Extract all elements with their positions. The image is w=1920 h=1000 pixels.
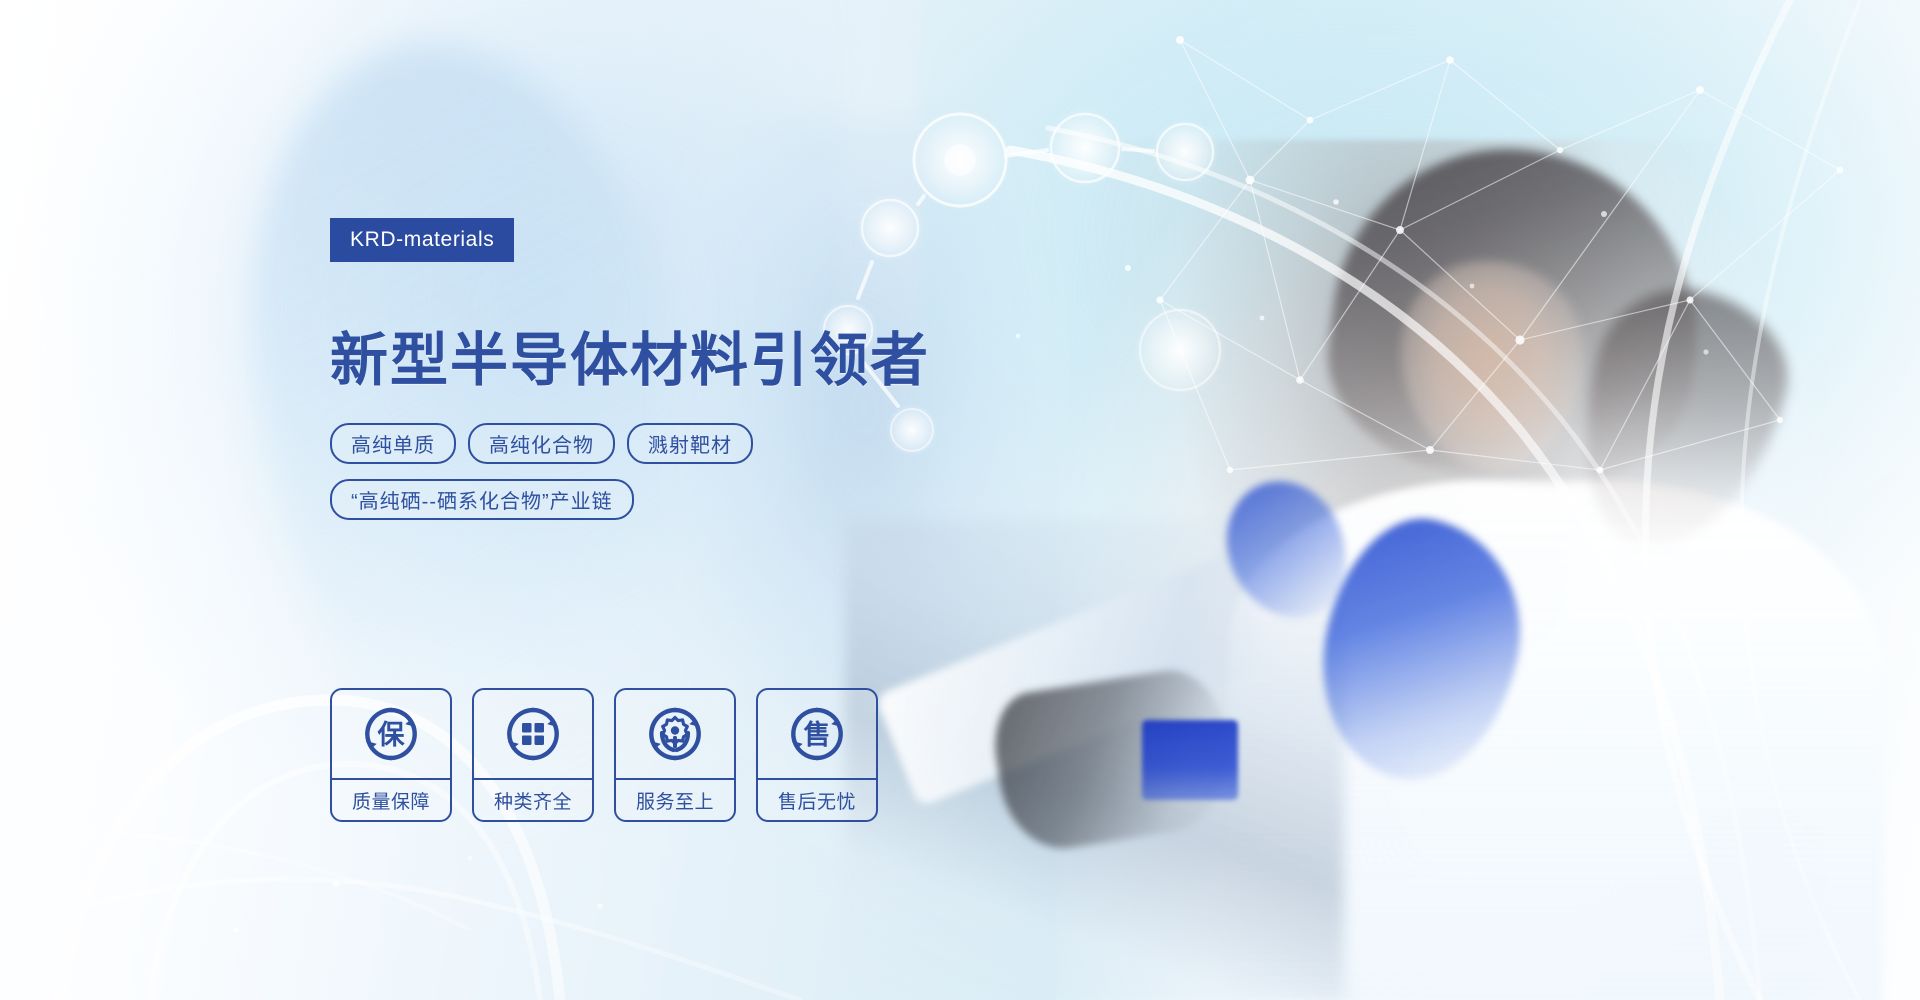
product-tag[interactable]: 高纯化合物 <box>468 423 615 464</box>
feature-card-service[interactable]: 服务至上 <box>614 688 736 822</box>
brand-badge: KRD-materials <box>330 218 514 262</box>
feature-card-aftersales[interactable]: 售 售后无忧 <box>756 688 878 822</box>
feature-label: 种类齐全 <box>474 778 592 820</box>
full-range-grid-icon <box>502 703 564 765</box>
aftersales-glyph: 售 <box>804 719 831 750</box>
quality-guarantee-icon: 保 <box>360 703 422 765</box>
after-sales-icon: 售 <box>786 703 848 765</box>
product-tag[interactable]: 溅射靶材 <box>627 423 753 464</box>
feature-icon-slot <box>616 690 734 778</box>
quality-glyph: 保 <box>377 720 406 750</box>
feature-card-list: 保 质量保障 <box>330 688 878 822</box>
industry-chain-tag[interactable]: “高纯硒--硒系化合物”产业链 <box>330 479 634 520</box>
feature-label: 服务至上 <box>616 778 734 820</box>
product-tag-row-primary: 高纯单质 高纯化合物 溅射靶材 <box>330 423 753 464</box>
page-title: 新型半导体材料引领者 <box>330 330 930 391</box>
background-reagent-bottle <box>1142 720 1238 800</box>
feature-label: 质量保障 <box>332 778 450 820</box>
feature-label: 售后无忧 <box>758 778 876 820</box>
product-tag-row-secondary: “高纯硒--硒系化合物”产业链 <box>330 479 634 520</box>
service-first-hands-icon <box>644 703 706 765</box>
feature-icon-slot: 保 <box>332 690 450 778</box>
feature-card-range[interactable]: 种类齐全 <box>472 688 594 822</box>
feature-card-quality[interactable]: 保 质量保障 <box>330 688 452 822</box>
hero-banner: KRD-materials 新型半导体材料引领者 高纯单质 高纯化合物 溅射靶材… <box>0 0 1920 1000</box>
product-tag[interactable]: 高纯单质 <box>330 423 456 464</box>
hero-content: KRD-materials 新型半导体材料引领者 高纯单质 高纯化合物 溅射靶材… <box>330 0 1030 1000</box>
feature-icon-slot <box>474 690 592 778</box>
feature-icon-slot: 售 <box>758 690 876 778</box>
